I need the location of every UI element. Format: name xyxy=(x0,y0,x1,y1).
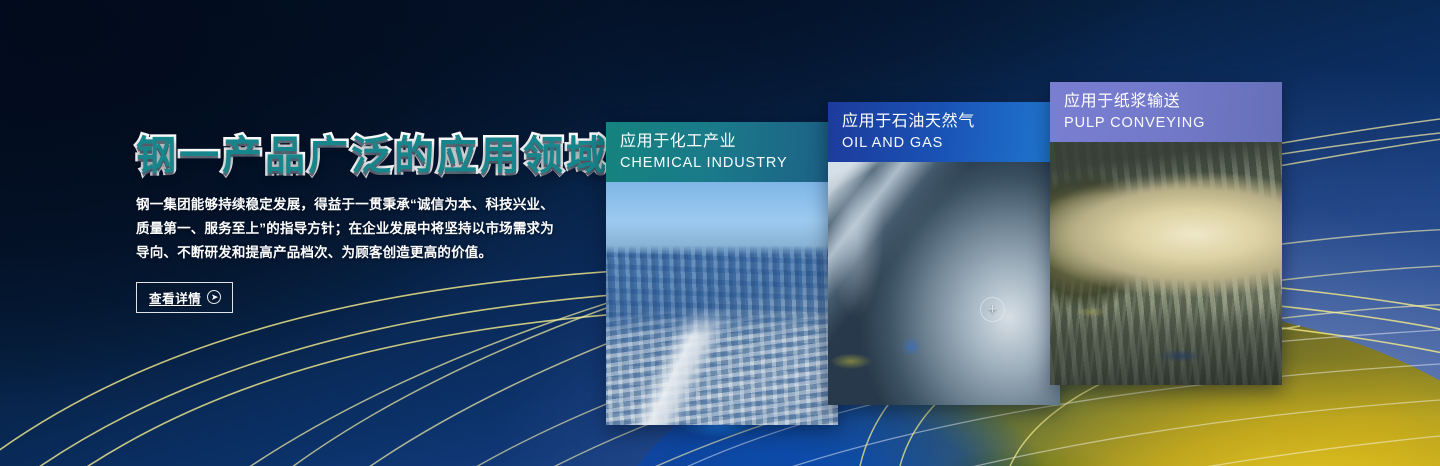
card-title-en: PULP CONVEYING xyxy=(1064,113,1282,133)
description-line: 钢一集团能够持续稳定发展，得益于一贯秉承“诚信为本、科技兴业、 xyxy=(136,193,586,217)
pulp-roller-photo xyxy=(1050,142,1282,385)
view-details-button[interactable]: 查看详情 ➤ xyxy=(136,282,233,313)
hero-description: 钢一集团能够持续稳定发展，得益于一贯秉承“诚信为本、科技兴业、 质量第一、服务至… xyxy=(136,193,586,265)
page-title: 钢一产品广泛的应用领域 xyxy=(136,134,606,179)
card-title-en: CHEMICAL INDUSTRY xyxy=(620,153,838,173)
card-image[interactable]: + xyxy=(828,162,1060,405)
chemical-plant-photo xyxy=(606,182,838,425)
oil-gas-pipes-photo xyxy=(828,162,1060,405)
application-card-pulp-conveying[interactable]: 应用于纸浆输送 PULP CONVEYING xyxy=(1050,82,1282,385)
card-title-cn: 应用于石油天然气 xyxy=(842,111,1060,133)
hero-copy: 钢一产品广泛的应用领域 钢一集团能够持续稳定发展，得益于一贯秉承“诚信为本、科技… xyxy=(136,134,606,313)
view-details-label: 查看详情 xyxy=(149,288,201,307)
zoom-in-plus-icon[interactable]: + xyxy=(980,297,1005,322)
card-image[interactable] xyxy=(606,182,838,425)
card-title-cn: 应用于化工产业 xyxy=(620,131,838,153)
application-card-oil-and-gas[interactable]: 应用于石油天然气 OIL AND GAS + xyxy=(828,102,1060,405)
application-card-chemical-industry[interactable]: 应用于化工产业 CHEMICAL INDUSTRY xyxy=(606,122,838,425)
card-image[interactable] xyxy=(1050,142,1282,385)
description-line: 质量第一、服务至上”的指导方针；在企业发展中将坚持以市场需求为 xyxy=(136,217,586,241)
description-line: 导向、不断研发和提高产品档次、为顾客创造更高的价值。 xyxy=(136,241,586,265)
card-header: 应用于纸浆输送 PULP CONVEYING xyxy=(1050,82,1282,142)
card-header: 应用于化工产业 CHEMICAL INDUSTRY xyxy=(606,122,838,182)
card-header: 应用于石油天然气 OIL AND GAS xyxy=(828,102,1060,162)
card-title-cn: 应用于纸浆输送 xyxy=(1064,91,1282,113)
card-title-en: OIL AND GAS xyxy=(842,133,1060,153)
hero-banner: 钢一产品广泛的应用领域 钢一集团能够持续稳定发展，得益于一贯秉承“诚信为本、科技… xyxy=(0,0,1440,466)
chevron-right-circle-icon: ➤ xyxy=(207,290,221,304)
